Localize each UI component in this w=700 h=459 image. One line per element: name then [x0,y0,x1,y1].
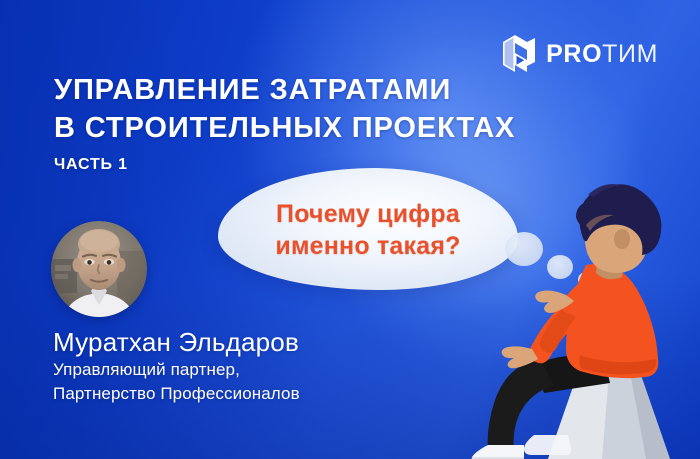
seated-person-illustration [470,169,700,459]
thought-bubble-line-2: именно такая? [275,232,460,261]
speaker-block: Муратхан Эльдаров Управляющий партнер, П… [53,327,413,405]
presentation-slide: PROТИМ УПРАВЛЕНИЕ ЗАТРАТАМИ В СТРОИТЕЛЬН… [0,0,700,459]
brand-logo[interactable]: PROТИМ [501,32,658,76]
brand-logo-pro: PRO [546,40,602,68]
avatar [51,221,147,317]
brand-logo-text: PROТИМ [546,42,658,67]
speaker-name: Муратхан Эльдаров [53,327,413,357]
brand-logo-tim: ТИМ [602,40,658,68]
title-block: УПРАВЛЕНИЕ ЗАТРАТАМИ В СТРОИТЕЛЬНЫХ ПРОЕ… [54,72,574,174]
thought-bubble-line-1: Почему цифра [276,200,460,229]
speaker-role-line-1: Управляющий партнер, [53,359,413,381]
speaker-role-line-2: Партнерство Профессионалов [53,383,413,405]
isometric-building-logo-icon [501,32,537,76]
title-line-2: В СТРОИТЕЛЬНЫХ ПРОЕКТАХ [54,110,574,148]
title-line-1: УПРАВЛЕНИЕ ЗАТРАТАМИ [54,72,574,110]
